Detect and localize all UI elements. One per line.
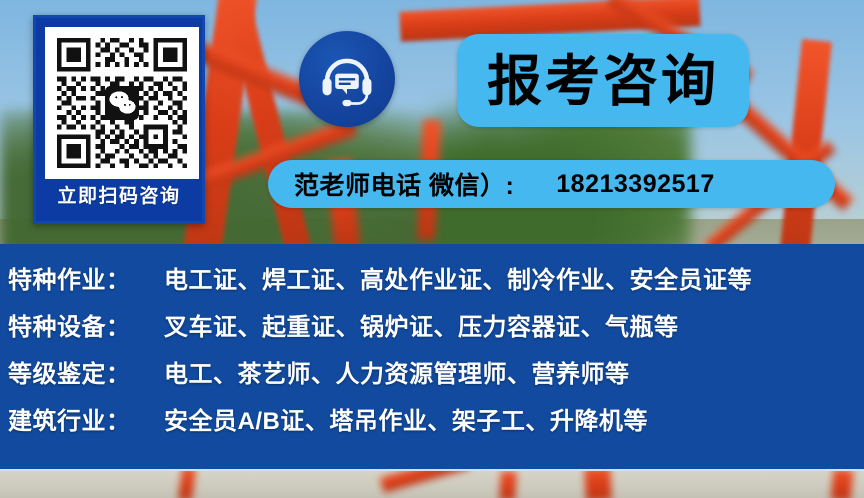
headset-glyph	[318, 50, 376, 108]
category-name: 特种作业：	[8, 260, 154, 295]
qr-scan-label: 立即扫码咨询	[36, 182, 202, 212]
category-row-special-operations: 特种作业： 电工证、焊工证、高处作业证、制冷作业、安全员证等	[8, 260, 864, 307]
category-items: 叉车证、起重证、锅炉证、压力容器证、气瓶等	[154, 307, 679, 342]
bottom-crane-leg-3	[499, 471, 517, 498]
category-name: 建筑行业：	[8, 401, 154, 436]
category-row-special-equipment: 特种设备： 叉车证、起重证、锅炉证、压力容器证、气瓶等	[8, 307, 864, 354]
category-items: 电工证、焊工证、高处作业证、制冷作业、安全员证等	[154, 260, 752, 295]
bottom-crane-leg-4	[584, 471, 612, 498]
phone-number[interactable]: 18213392517	[556, 170, 714, 199]
bottom-crane-leg-5	[830, 471, 853, 498]
bottom-crane-leg-2	[380, 471, 471, 493]
headset-support-icon	[299, 31, 395, 127]
category-list-panel: 特种作业： 电工证、焊工证、高处作业证、制冷作业、安全员证等 特种设备： 叉车证…	[0, 244, 864, 471]
category-name: 等级鉴定：	[8, 354, 154, 389]
category-name: 特种设备：	[8, 307, 154, 342]
bottom-photo-strip	[0, 471, 864, 498]
qr-code-image[interactable]	[45, 27, 199, 179]
qr-code-matrix	[51, 33, 193, 173]
category-items: 电工、茶艺师、人力资源管理师、营养师等	[154, 354, 630, 389]
page-title: 报考咨询	[487, 51, 719, 111]
title-pill: 报考咨询	[457, 34, 749, 127]
category-row-grade-assessment: 等级鉴定： 电工、茶艺师、人力资源管理师、营养师等	[8, 354, 864, 401]
category-items: 安全员A/B证、塔吊作业、架子工、升降机等	[154, 401, 648, 436]
category-row-construction-industry: 建筑行业： 安全员A/B证、塔吊作业、架子工、升降机等	[8, 401, 864, 448]
contact-pill[interactable]: 范老师电话 微信）: 18213392517	[268, 160, 835, 208]
contact-label: 范老师电话 微信）:	[294, 166, 514, 202]
bottom-crane-leg-1	[178, 471, 197, 498]
qr-code-card[interactable]: 立即扫码咨询	[33, 15, 205, 224]
advertisement-banner: 立即扫码咨询 报考咨询 范老师电话 微信）: 18213392517 特种作业：…	[0, 0, 864, 498]
